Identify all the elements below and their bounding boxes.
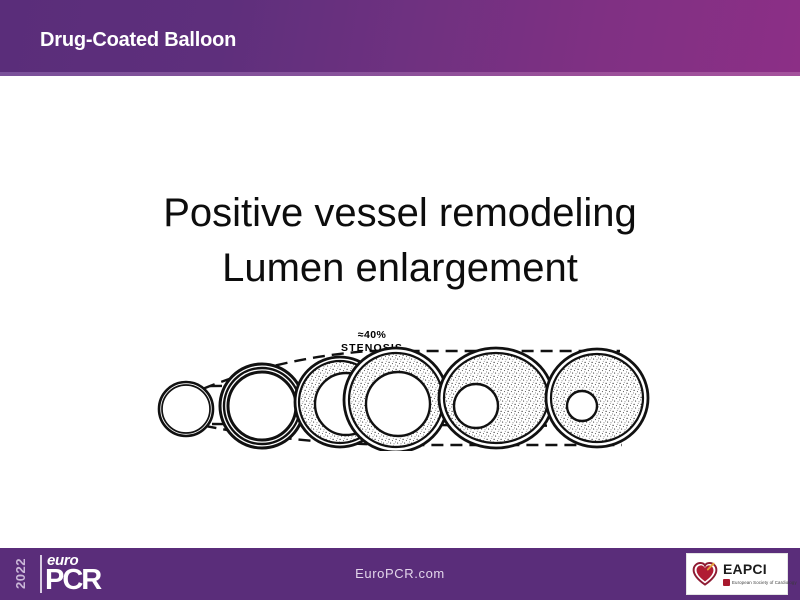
vascular-remodeling-diagram: ≈40% STENOSIS <box>150 326 650 451</box>
header-underline <box>0 72 800 76</box>
eapci-logo-name: EAPCI <box>723 562 797 577</box>
vessel-stage-4 <box>344 348 448 451</box>
europcr-logo-divider <box>40 555 42 593</box>
eapci-logo-subtitle: European Society of Cardiology <box>732 580 797 585</box>
stenosis-annotation-line1: ≈40% <box>358 329 387 341</box>
vessel-stage-6 <box>546 349 648 447</box>
vessel-stage-1 <box>159 382 213 436</box>
headline-line-2: Lumen enlargement <box>0 241 800 296</box>
headline-block: Positive vessel remodeling Lumen enlarge… <box>0 186 800 296</box>
heart-icon <box>692 561 718 587</box>
headline-line-1: Positive vessel remodeling <box>0 186 800 241</box>
europcr-logo-pcr-text: PCR <box>45 566 100 595</box>
esc-mark-icon <box>723 579 730 586</box>
europcr-logo-year: 2022 <box>14 558 27 589</box>
eapci-logo: EAPCI European Society of Cardiology <box>686 553 788 595</box>
slide-root: Drug-Coated Balloon Positive vessel remo… <box>0 0 800 600</box>
slide-title: Drug-Coated Balloon <box>40 29 236 52</box>
europcr-logo: 2022 euro PCR <box>14 552 124 596</box>
vessel-stage-5 <box>439 348 553 448</box>
vessel-stage-2 <box>220 364 304 448</box>
